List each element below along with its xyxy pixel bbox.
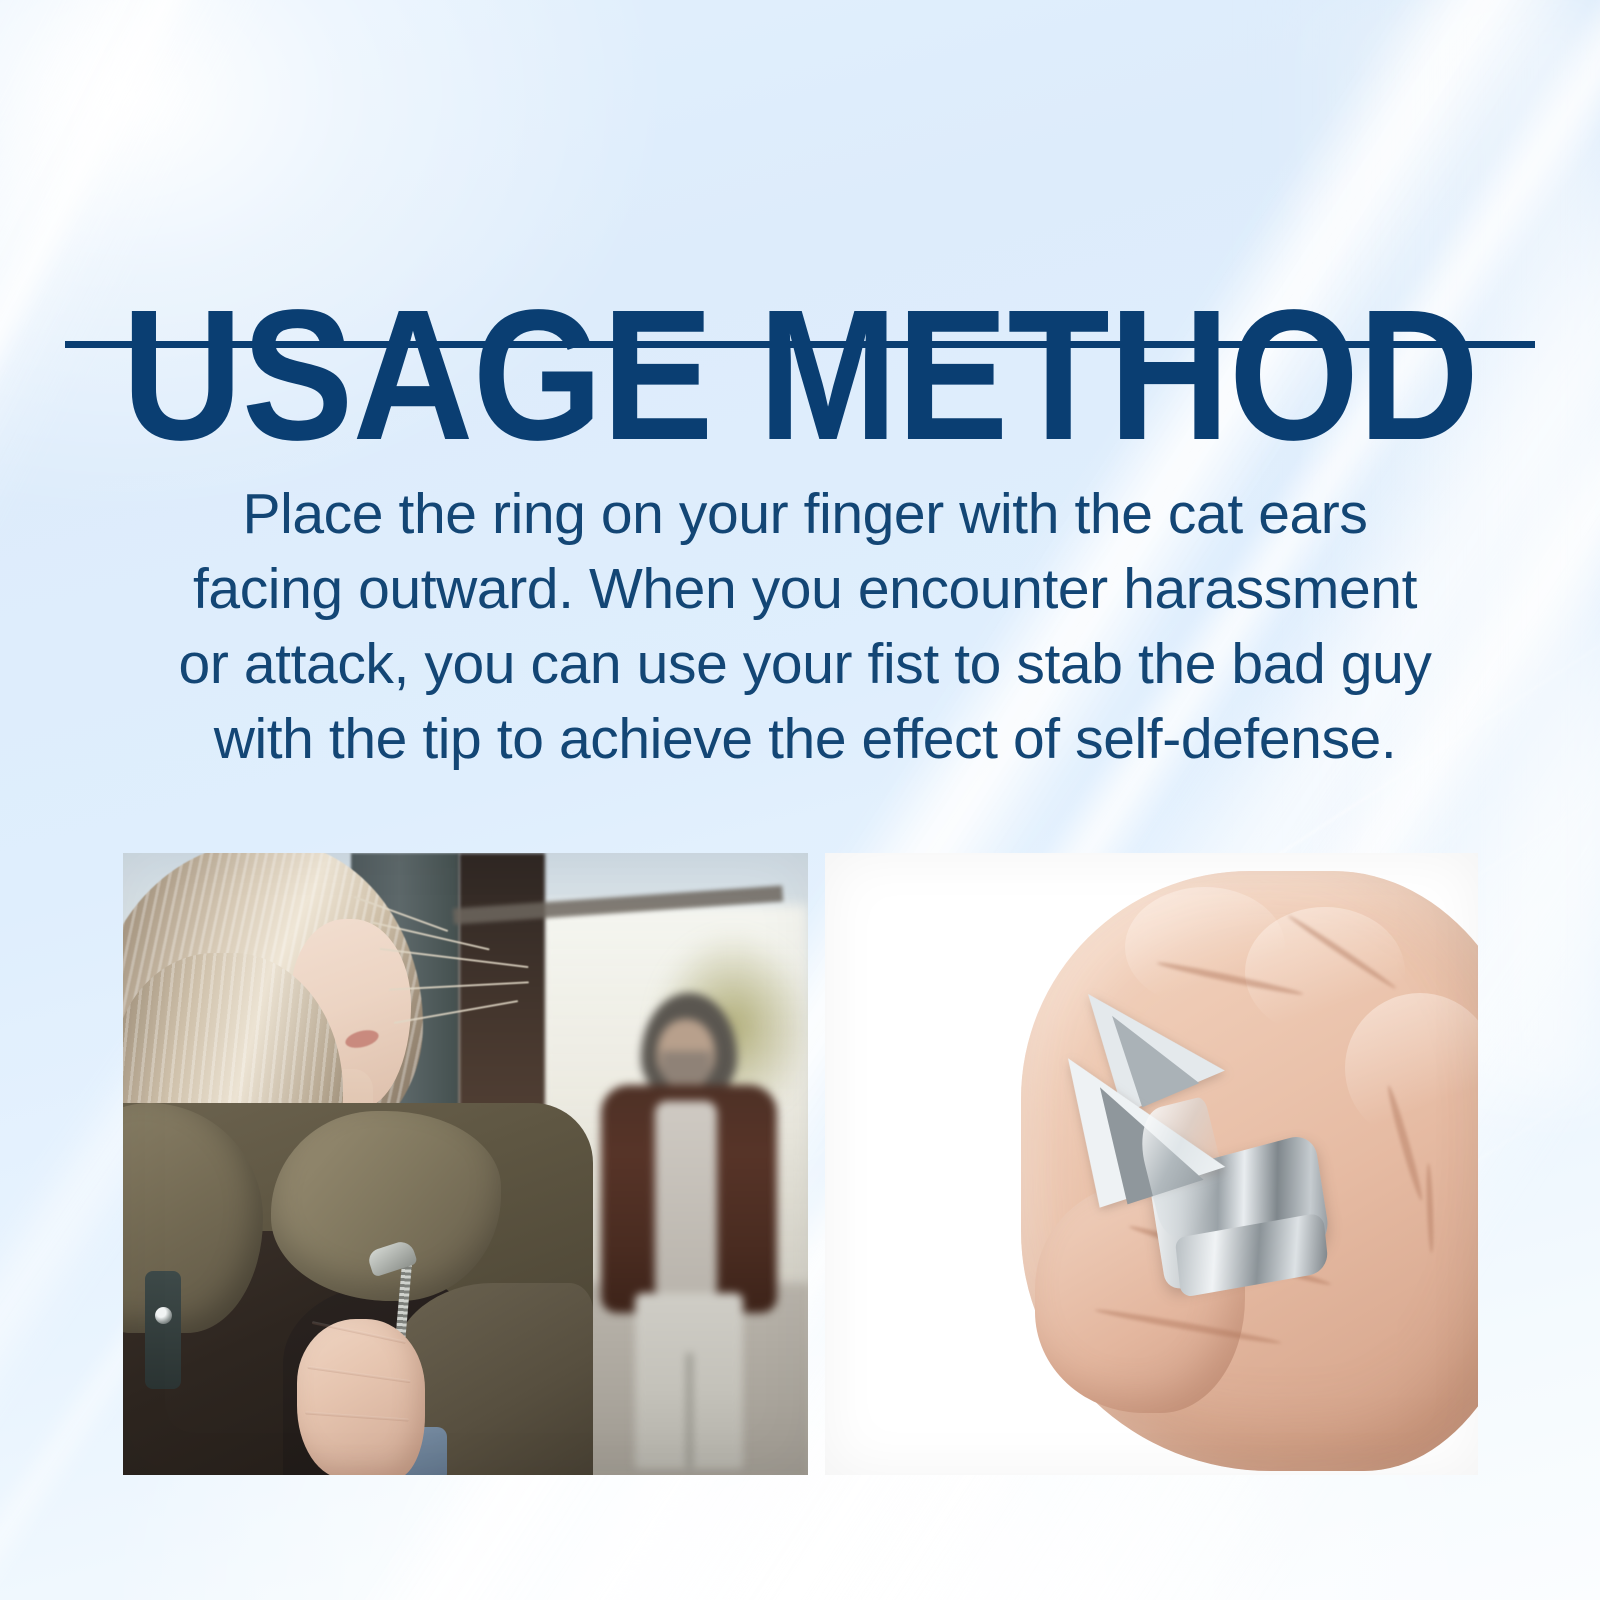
woman-figure bbox=[123, 853, 613, 1475]
fist-wearing-cat-ear-ring-photo bbox=[825, 853, 1478, 1475]
title-divider bbox=[65, 341, 1535, 348]
coat-snap-button bbox=[155, 1307, 172, 1324]
usage-method-poster: USAGE METHOD Place the ring on your fing… bbox=[0, 0, 1600, 1600]
hooded-man-figure bbox=[593, 993, 783, 1463]
poster-content: USAGE METHOD Place the ring on your fing… bbox=[0, 0, 1600, 1600]
man-shirt bbox=[655, 1101, 717, 1299]
photo-row bbox=[123, 853, 1478, 1475]
man-beard bbox=[661, 1051, 711, 1087]
man-leg-separation bbox=[687, 1353, 692, 1468]
page-title: USAGE METHOD bbox=[80, 288, 1520, 464]
coat-strap-tab bbox=[145, 1271, 181, 1389]
product-shot bbox=[825, 853, 1478, 1475]
woman-followed-by-man-photo bbox=[123, 853, 808, 1475]
street-scene bbox=[123, 853, 808, 1475]
instruction-text: Place the ring on your finger with the c… bbox=[170, 477, 1440, 777]
